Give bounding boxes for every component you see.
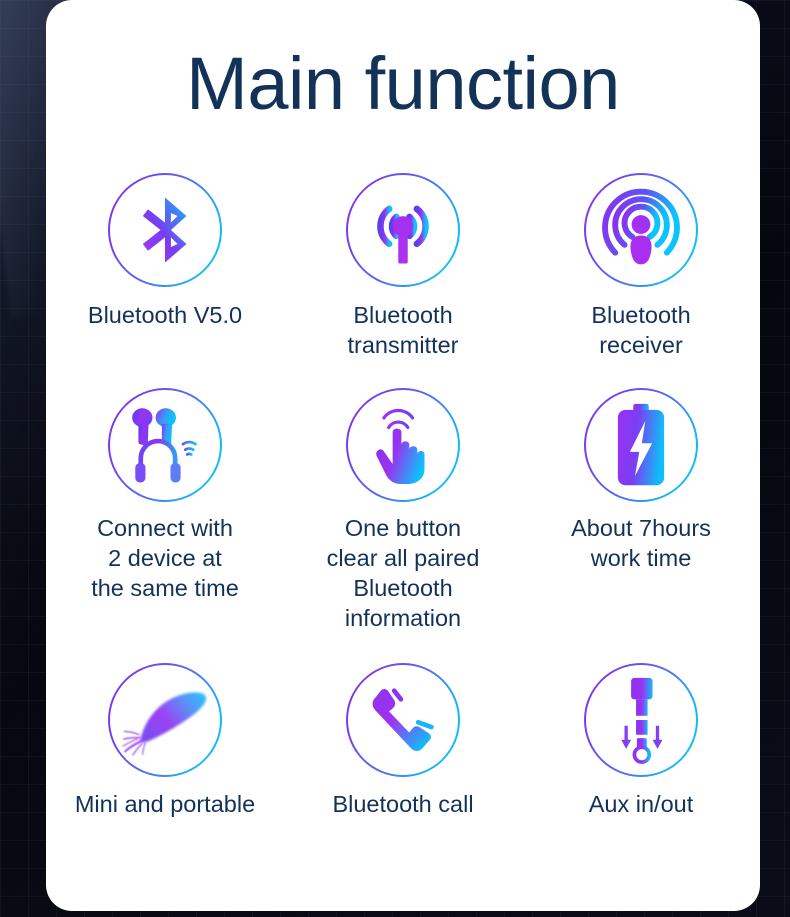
feature-item-bluetooth-receiver[interactable]: Bluetooth receiver bbox=[522, 173, 760, 388]
earbuds-headphones-icon bbox=[122, 402, 208, 488]
icon-circle bbox=[584, 663, 698, 777]
feature-label: Aux in/out bbox=[589, 789, 694, 819]
bluetooth-transmitter-icon bbox=[363, 192, 443, 268]
feature-item-battery-life[interactable]: About 7hours work time bbox=[522, 388, 760, 663]
feature-label: Connect with 2 device at the same time bbox=[91, 513, 239, 603]
feature-grid: Bluetooth V5.0 bbox=[46, 173, 760, 819]
aux-jack-icon bbox=[608, 676, 674, 764]
page-title: Main function bbox=[46, 0, 760, 121]
bluetooth-icon bbox=[128, 193, 202, 267]
icon-circle bbox=[108, 173, 222, 287]
feature-label: One button clear all paired Bluetooth in… bbox=[327, 513, 480, 633]
feature-item-bluetooth-call[interactable]: Bluetooth call bbox=[284, 663, 522, 819]
icon-circle bbox=[584, 173, 698, 287]
icon-circle bbox=[108, 388, 222, 502]
feature-item-bluetooth-transmitter[interactable]: Bluetooth transmitter bbox=[284, 173, 522, 388]
icon-circle bbox=[108, 663, 222, 777]
feature-item-connect-two-devices[interactable]: Connect with 2 device at the same time bbox=[46, 388, 284, 663]
bluetooth-receiver-icon bbox=[598, 187, 684, 273]
icon-circle bbox=[346, 663, 460, 777]
feature-item-mini-portable[interactable]: Mini and portable bbox=[46, 663, 284, 819]
feature-label: Bluetooth receiver bbox=[591, 300, 690, 360]
phone-handset-icon bbox=[364, 681, 442, 759]
tapping-hand-icon bbox=[362, 402, 444, 488]
icon-circle bbox=[346, 388, 460, 502]
feature-label: Bluetooth call bbox=[332, 789, 473, 819]
feature-card: Main function Bluetooth V5.0 bbox=[46, 0, 760, 911]
feature-item-one-button-clear[interactable]: One button clear all paired Bluetooth in… bbox=[284, 388, 522, 663]
battery-charging-icon bbox=[611, 402, 671, 488]
feature-label: Bluetooth V5.0 bbox=[88, 300, 242, 330]
feature-label: Mini and portable bbox=[75, 789, 255, 819]
feather-icon bbox=[119, 684, 211, 756]
icon-circle bbox=[584, 388, 698, 502]
feature-label: Bluetooth transmitter bbox=[348, 300, 459, 360]
feature-label: About 7hours work time bbox=[571, 513, 711, 573]
feature-item-bluetooth-v5[interactable]: Bluetooth V5.0 bbox=[46, 173, 284, 388]
feature-item-aux-in-out[interactable]: Aux in/out bbox=[522, 663, 760, 819]
icon-circle bbox=[346, 173, 460, 287]
